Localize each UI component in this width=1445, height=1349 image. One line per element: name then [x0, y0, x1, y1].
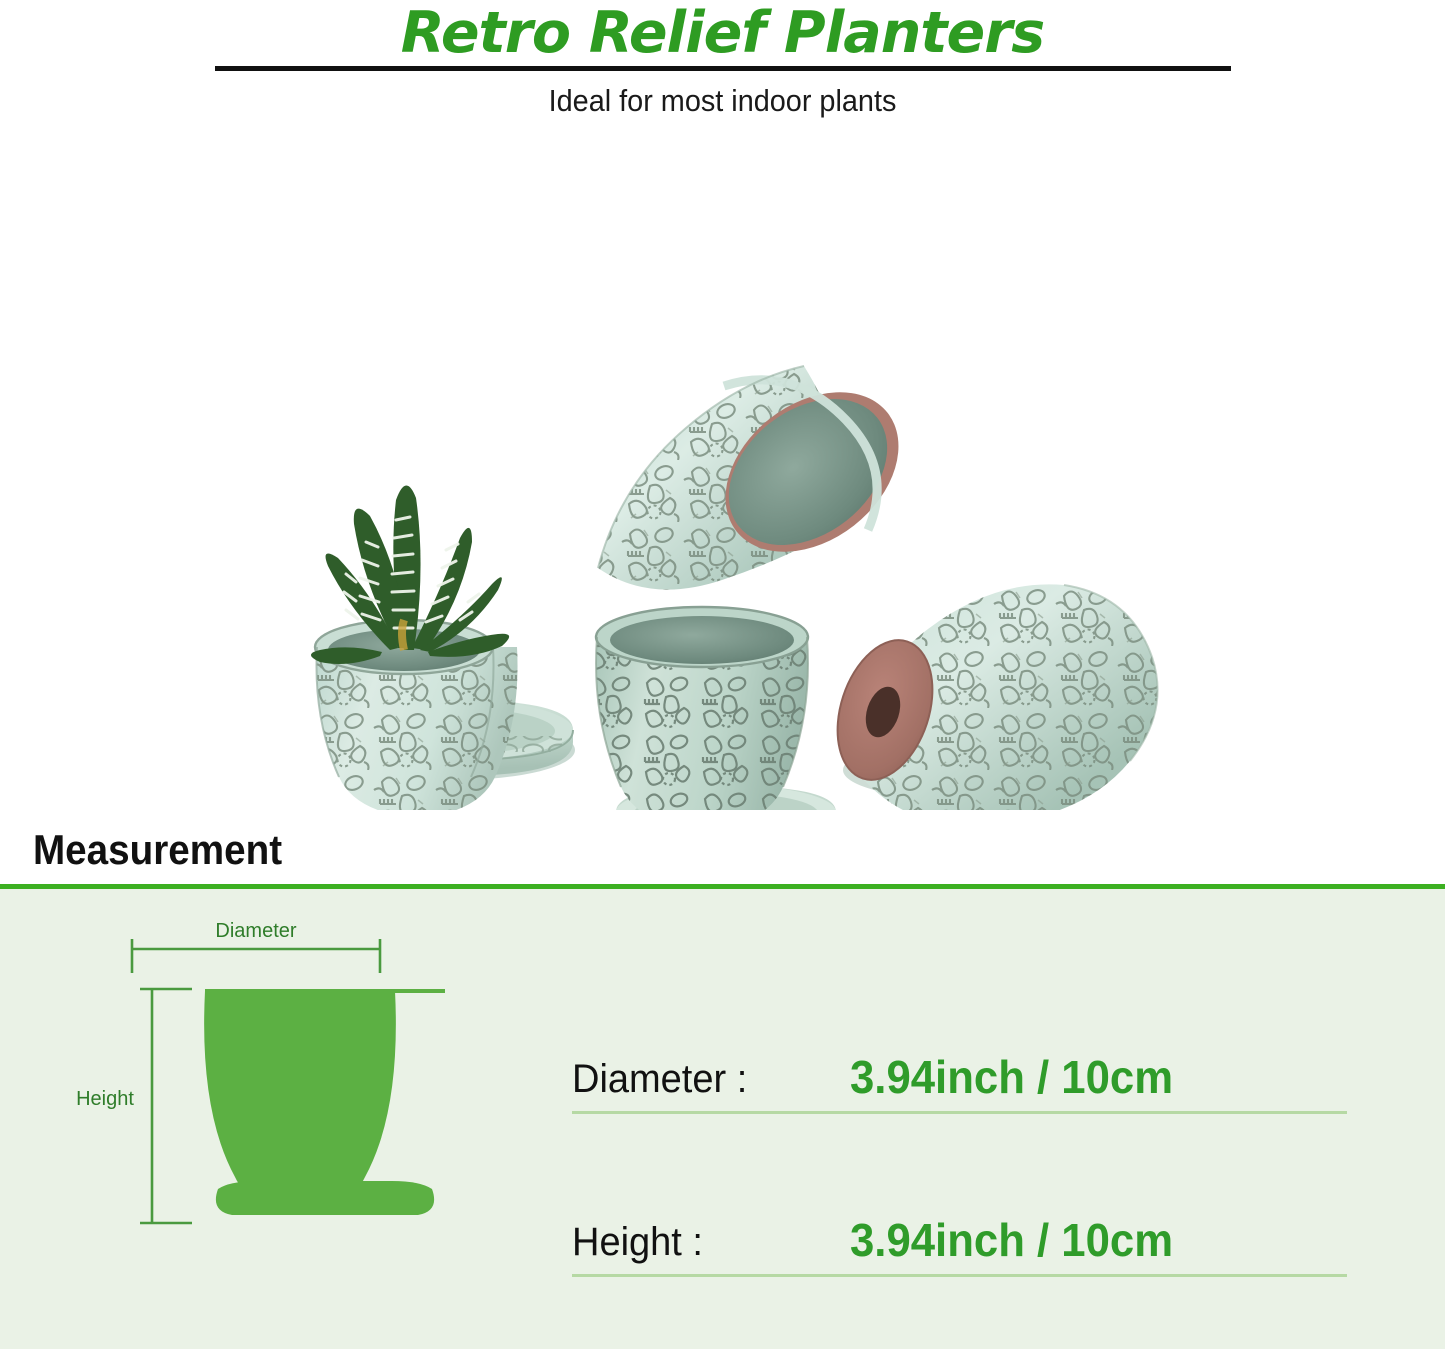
measurement-row-height: Height : 3.94inch / 10cm [572, 1192, 1362, 1277]
measurement-heading: Measurement [33, 826, 282, 874]
product-infographic: Retro Relief Planters Ideal for most ind… [0, 0, 1445, 1349]
height-dimension-label: Height [76, 1088, 134, 1110]
height-value: 3.94inch / 10cm [850, 1213, 1173, 1267]
diameter-label: Diameter : [572, 1057, 747, 1102]
planters-illustration [0, 150, 1445, 810]
page-subtitle: Ideal for most indoor plants [51, 83, 1395, 119]
header: Retro Relief Planters Ideal for most ind… [0, 0, 1445, 140]
pot-silhouette [204, 991, 445, 1215]
height-dimension-line [140, 989, 192, 1223]
title-divider [215, 66, 1231, 71]
diameter-row-underline [572, 1111, 1347, 1114]
planter-tilted-top [580, 350, 930, 610]
measurement-rows: Diameter : 3.94inch / 10cm Height : 3.94… [572, 1029, 1362, 1277]
planter-on-side [821, 570, 1170, 810]
planter-with-succulent [300, 485, 575, 810]
measurement-diagram: Diameter Height [60, 917, 490, 1247]
measurement-row-diameter: Diameter : 3.94inch / 10cm [572, 1029, 1362, 1114]
product-photo [0, 150, 1445, 810]
measurement-panel: Diameter Height Diame [0, 889, 1445, 1349]
height-row-underline [572, 1274, 1347, 1277]
pot-dimension-drawing: Diameter Height [60, 917, 490, 1247]
diameter-dimension-label: Diameter [215, 920, 296, 942]
planter-upright-center [580, 607, 843, 810]
height-label: Height : [572, 1220, 703, 1265]
diameter-value: 3.94inch / 10cm [850, 1050, 1173, 1104]
page-title: Retro Relief Planters [0, 2, 1445, 64]
diameter-dimension-line [132, 939, 380, 973]
